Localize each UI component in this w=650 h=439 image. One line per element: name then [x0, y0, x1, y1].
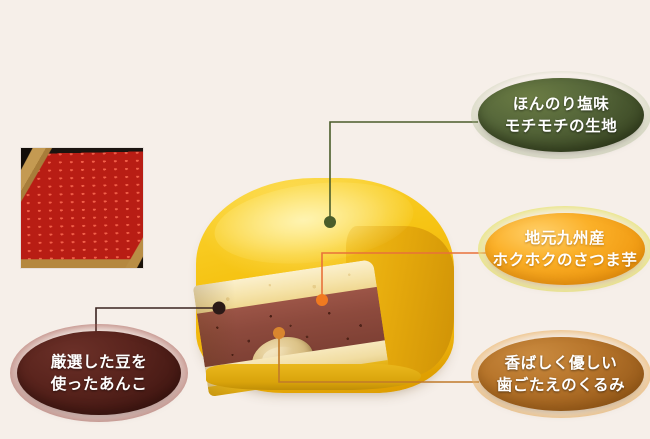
connector-sweet-potato: [316, 253, 486, 306]
connector-dot-walnut: [273, 327, 285, 339]
connector-dot-sweet-potato: [316, 294, 328, 306]
callout-crust-text: ほんのり塩味 モチモチの生地: [505, 93, 618, 137]
azuki-beans-texture: [21, 151, 143, 268]
callout-walnut-text: 香ばしく優しい 歯ごたえのくるみ: [497, 352, 626, 396]
azuki-beans-photo: [21, 148, 143, 268]
callout-sweet-potato-line2: ホクホクのさつま芋: [493, 249, 638, 271]
callout-crust-line2: モチモチの生地: [505, 115, 618, 137]
promo-infographic: ほんのり塩味 モチモチの生地 地元九州産 ホクホクのさつま芋 香ばしく優しい 歯…: [0, 0, 650, 439]
callout-crust[interactable]: ほんのり塩味 モチモチの生地: [478, 78, 644, 152]
callout-walnut-line1: 香ばしく優しい: [505, 354, 618, 372]
callout-sweet-potato-line1: 地元九州産: [525, 229, 606, 247]
callout-sweet-potato[interactable]: 地元九州産 ホクホクのさつま芋: [485, 213, 645, 285]
callout-walnut-line2: 歯ごたえのくるみ: [497, 374, 626, 396]
connector-dot-anko: [213, 302, 226, 315]
callout-anko-line2: 使ったあんこ: [51, 373, 148, 395]
callout-sweet-potato-text: 地元九州産 ホクホクのさつま芋: [493, 227, 638, 271]
callout-crust-line1: ほんのり塩味: [513, 95, 610, 113]
connector-crust: [324, 122, 478, 228]
connector-walnut: [273, 327, 479, 382]
callout-anko[interactable]: 厳選した豆を 使ったあんこ: [17, 331, 181, 415]
callout-walnut[interactable]: 香ばしく優しい 歯ごたえのくるみ: [478, 337, 644, 411]
callout-anko-text: 厳選した豆を 使ったあんこ: [51, 351, 148, 395]
callout-anko-line1: 厳選した豆を: [51, 353, 148, 371]
connector-dot-crust: [324, 216, 336, 228]
